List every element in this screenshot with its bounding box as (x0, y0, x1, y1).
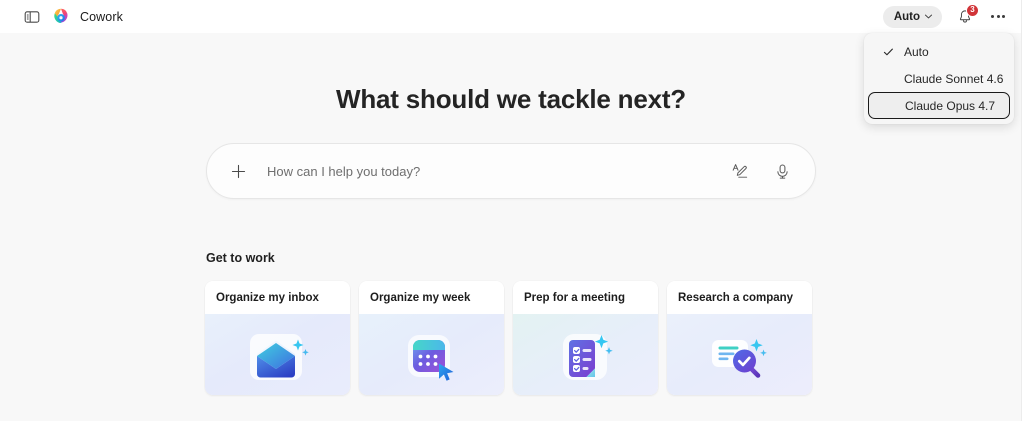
model-option-label: Auto (904, 45, 929, 59)
model-option-label: Claude Sonnet 4.6 (904, 72, 1003, 86)
card-artwork (667, 314, 812, 395)
model-option-claude-opus-47[interactable]: Claude Opus 4.7 (868, 92, 1010, 119)
suggestion-cards: Organize my inbox (205, 281, 812, 395)
sidebar-toggle-icon[interactable] (22, 7, 42, 27)
brand-name: Cowork (80, 10, 123, 24)
check-icon (883, 46, 894, 57)
card-header: Organize my week (359, 281, 504, 314)
top-bar-left-group: Cowork (0, 7, 123, 27)
card-header: Prep for a meeting (513, 281, 658, 314)
calendar-cursor-icon (395, 322, 469, 388)
suggestion-card-prep-for-a-meeting[interactable]: Prep for a meeting (513, 281, 658, 395)
notification-badge: 3 (966, 4, 979, 17)
cowork-logo-icon (52, 8, 70, 26)
card-title: Prep for a meeting (524, 292, 625, 304)
card-header: Organize my inbox (205, 281, 350, 314)
app-window: Cowork Auto 3 (0, 0, 1022, 421)
mail-sparkle-icon (241, 322, 315, 388)
dot (991, 15, 994, 18)
suggestion-card-research-a-company[interactable]: Research a company (667, 281, 812, 395)
notifications-button[interactable]: 3 (954, 6, 976, 28)
suggestion-card-organize-my-inbox[interactable]: Organize my inbox (205, 281, 350, 395)
composer-actions (729, 160, 793, 182)
document-search-check-icon (700, 322, 780, 388)
more-horizontal-icon[interactable] (988, 7, 1008, 27)
chevron-down-icon (924, 12, 933, 21)
card-artwork (205, 314, 350, 395)
top-bar: Cowork Auto 3 (0, 0, 1022, 33)
section-label-get-to-work: Get to work (206, 251, 275, 265)
model-option-claude-sonnet-46[interactable]: Claude Sonnet 4.6 (868, 65, 1010, 92)
card-header: Research a company (667, 281, 812, 314)
composer[interactable] (206, 143, 816, 199)
card-title: Research a company (678, 292, 793, 304)
card-title: Organize my week (370, 292, 470, 304)
model-selector-label: Auto (894, 11, 920, 23)
dot (997, 15, 1000, 18)
model-selector-button[interactable]: Auto (883, 6, 942, 28)
suggestion-card-organize-my-week[interactable]: Organize my week (359, 281, 504, 395)
composer-input[interactable] (249, 164, 729, 179)
handwriting-pen-icon[interactable] (729, 160, 751, 182)
microphone-icon[interactable] (771, 160, 793, 182)
card-artwork (359, 314, 504, 395)
dot (1002, 15, 1005, 18)
card-artwork (513, 314, 658, 395)
checklist-sparkle-icon (549, 322, 623, 388)
model-dropdown-menu: Auto Claude Sonnet 4.6 Claude Opus 4.7 (864, 33, 1014, 124)
card-title: Organize my inbox (216, 292, 319, 304)
model-option-label: Claude Opus 4.7 (905, 99, 995, 113)
model-option-auto[interactable]: Auto (868, 38, 1010, 65)
top-bar-right-group: Auto 3 (883, 0, 1008, 33)
plus-icon[interactable] (227, 160, 249, 182)
